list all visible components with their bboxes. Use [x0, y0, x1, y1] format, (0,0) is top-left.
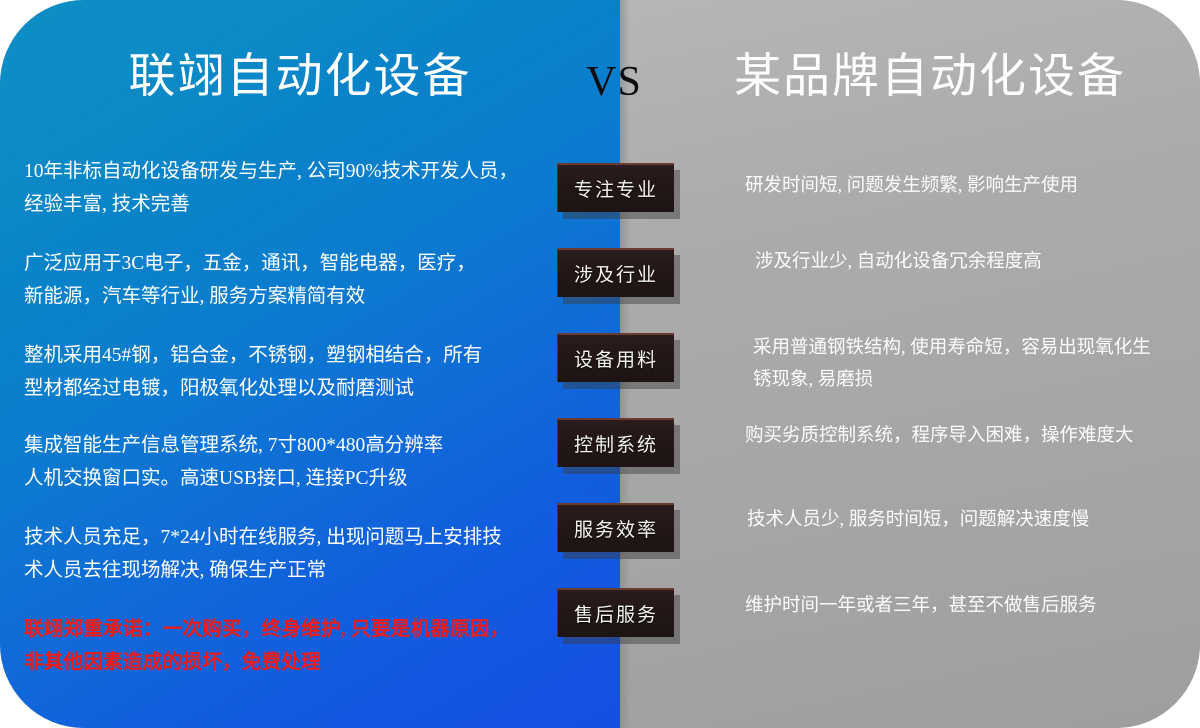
right-weakness-line: 研发时间短, 问题发生频繁, 影响生产使用 — [745, 170, 1185, 202]
category-plate-label: 设备用料 — [574, 345, 658, 372]
category-plate-focus[interactable]: 专注专业 — [557, 163, 674, 212]
right-weakness-list: 研发时间短, 问题发生频繁, 影响生产使用 涉及行业少, 自动化设备冗余程度高 … — [745, 160, 1185, 622]
right-weakness-item-3: 采用普通钢铁结构, 使用寿命短，容易出现氧化生 锈现象, 易磨损 — [753, 332, 1185, 420]
left-feature-line: 人机交换窗口实。高速USB接口, 连接PC升级 — [24, 462, 536, 495]
category-plate-wrapper: 售后服务 — [557, 588, 687, 673]
left-brand-title: 联翊自动化设备 — [40, 52, 560, 104]
category-plate-industries[interactable]: 涉及行业 — [557, 248, 674, 297]
category-plate-label: 涉及行业 — [574, 260, 658, 287]
left-feature-list: 10年非标自动化设备研发与生产, 公司90%技术开发人员， 经验丰富, 技术完善… — [24, 155, 536, 701]
left-feature-line: 10年非标自动化设备研发与生产, 公司90%技术开发人员， — [24, 155, 536, 188]
category-plate-wrapper: 服务效率 — [557, 503, 687, 588]
category-plate-service-efficiency[interactable]: 服务效率 — [557, 503, 674, 552]
left-feature-line: 经验丰富, 技术完善 — [24, 188, 536, 221]
right-weakness-line: 技术人员少, 服务时间短，问题解决速度慢 — [747, 504, 1185, 536]
right-weakness-line: 锈现象, 易磨损 — [753, 364, 1185, 396]
right-weakness-item-1: 研发时间短, 问题发生频繁, 影响生产使用 — [745, 170, 1185, 246]
left-feature-line: 广泛应用于3C电子，五金，通讯，智能电器，医疗， — [24, 247, 536, 280]
warranty-promise-line: 非其他因素造成的损坏，免费处理 — [24, 646, 536, 679]
right-brand-title: 某品牌自动化设备 — [680, 52, 1180, 104]
category-plate-label: 专注专业 — [574, 175, 658, 202]
right-weakness-line: 维护时间一年或者三年，甚至不做售后服务 — [745, 590, 1185, 622]
category-plate-label: 服务效率 — [574, 515, 658, 542]
left-feature-line: 整机采用45#钢，铝合金，不锈钢，塑钢相结合，所有 — [24, 339, 536, 372]
category-plate-after-sales[interactable]: 售后服务 — [557, 588, 674, 637]
comparison-poster: 联翊自动化设备 VS 某品牌自动化设备 10年非标自动化设备研发与生产, 公司9… — [0, 0, 1200, 728]
left-feature-item-1: 10年非标自动化设备研发与生产, 公司90%技术开发人员， 经验丰富, 技术完善 — [24, 155, 536, 221]
category-plate-wrapper: 设备用料 — [557, 333, 687, 418]
category-plate-control-system[interactable]: 控制系统 — [557, 418, 674, 467]
left-feature-line: 新能源，汽车等行业, 服务方案精简有效 — [24, 280, 536, 313]
warranty-promise-line: 联翊郑重承诺：一次购买，终身维护, 只要是机器原因， — [24, 613, 536, 646]
left-feature-line: 技术人员充足，7*24小时在线服务, 出现问题马上安排技 — [24, 521, 536, 554]
left-feature-item-3: 整机采用45#钢，铝合金，不锈钢，塑钢相结合，所有 型材都经过电镀，阳极氧化处理… — [24, 339, 536, 405]
category-plate-label: 售后服务 — [574, 600, 658, 627]
category-plate-wrapper: 控制系统 — [557, 418, 687, 503]
left-feature-item-4: 集成智能生产信息管理系统, 7寸800*480高分辨率 人机交换窗口实。高速US… — [24, 429, 536, 495]
category-plate-materials[interactable]: 设备用料 — [557, 333, 674, 382]
left-feature-item-2: 广泛应用于3C电子，五金，通讯，智能电器，医疗， 新能源，汽车等行业, 服务方案… — [24, 247, 536, 313]
left-feature-line: 型材都经过电镀，阳极氧化处理以及耐磨测试 — [24, 372, 536, 405]
right-weakness-item-4: 购买劣质控制系统，程序导入困难，操作难度大 — [745, 420, 1185, 504]
category-plate-list: 专注专业 涉及行业 设备用料 控制系统 服务效率 售后服务 — [557, 163, 687, 673]
right-weakness-line: 涉及行业少, 自动化设备冗余程度高 — [755, 246, 1185, 278]
category-plate-wrapper: 专注专业 — [557, 163, 687, 248]
right-weakness-line: 采用普通钢铁结构, 使用寿命短，容易出现氧化生 — [753, 332, 1185, 364]
left-feature-item-5: 技术人员充足，7*24小时在线服务, 出现问题马上安排技 术人员去往现场解决, … — [24, 521, 536, 587]
right-weakness-item-6: 维护时间一年或者三年，甚至不做售后服务 — [745, 590, 1185, 622]
category-plate-wrapper: 涉及行业 — [557, 248, 687, 333]
right-weakness-item-5: 技术人员少, 服务时间短，问题解决速度慢 — [747, 504, 1185, 590]
left-feature-line: 集成智能生产信息管理系统, 7寸800*480高分辨率 — [24, 429, 536, 462]
right-weakness-line: 购买劣质控制系统，程序导入困难，操作难度大 — [745, 420, 1185, 452]
left-feature-line: 术人员去往现场解决, 确保生产正常 — [24, 554, 536, 587]
vs-label: VS — [560, 58, 668, 106]
category-plate-label: 控制系统 — [574, 430, 658, 457]
warranty-promise-text: 联翊郑重承诺：一次购买，终身维护, 只要是机器原因， 非其他因素造成的损坏，免费… — [24, 613, 536, 679]
right-weakness-item-2: 涉及行业少, 自动化设备冗余程度高 — [755, 246, 1185, 332]
